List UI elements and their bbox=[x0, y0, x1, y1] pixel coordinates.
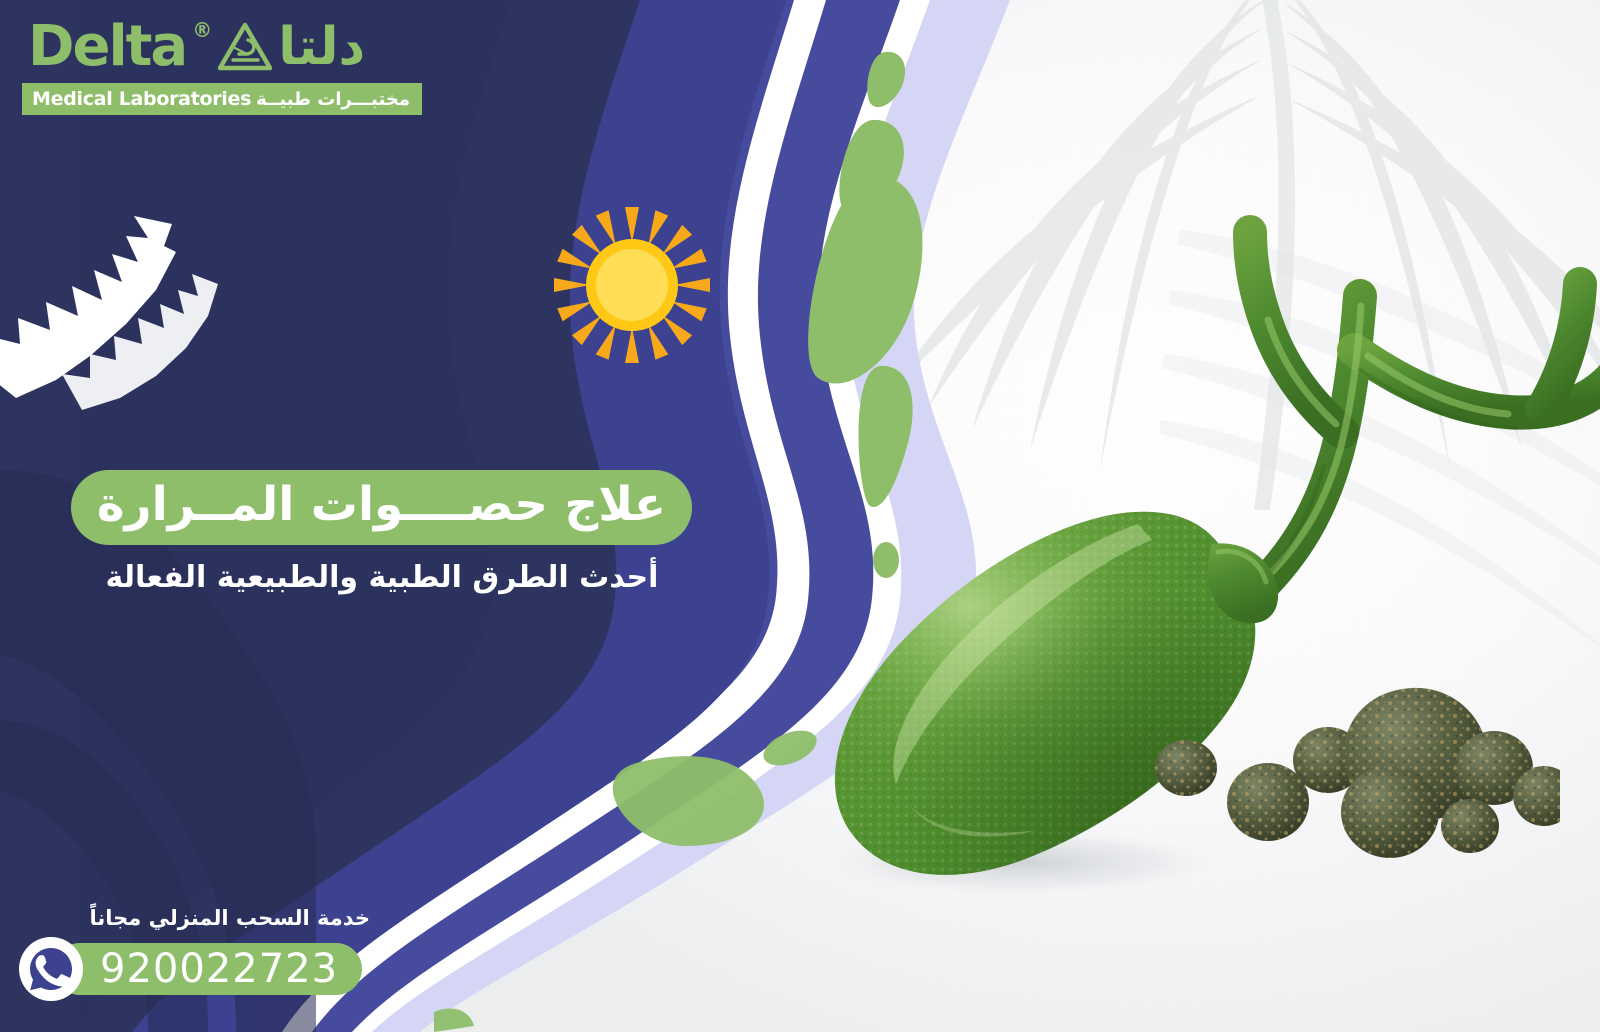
registered-trademark-icon: ® bbox=[192, 18, 212, 42]
gallstones-cluster bbox=[1140, 660, 1560, 880]
advertisement-banner: Delta ® دلتا Medical Laboratories مختبــ… bbox=[0, 0, 1600, 1032]
logo-wordmark-ar: دلتا bbox=[278, 21, 365, 73]
logo-tagline-bar: Medical Laboratories مختبـــرات طبيــة bbox=[22, 83, 422, 115]
brand-logo[interactable]: Delta ® دلتا Medical Laboratories مختبــ… bbox=[22, 14, 422, 115]
triangle-microscope-icon bbox=[218, 22, 272, 72]
contact-block: خدمة السحب المنزلي مجاناً 920022723 bbox=[18, 906, 378, 1002]
logo-wordmark-en: Delta bbox=[28, 19, 186, 75]
home-service-note: خدمة السحب المنزلي مجاناً bbox=[18, 906, 378, 930]
logo-tagline-ar: مختبـــرات طبيــة bbox=[256, 89, 410, 110]
whatsapp-icon[interactable] bbox=[18, 936, 84, 1002]
phone-pill[interactable]: 920022723 bbox=[54, 943, 362, 995]
logo-tagline-en: Medical Laboratories bbox=[32, 88, 251, 110]
headline-pill: علاج حصــــوات المــرارة bbox=[71, 470, 692, 545]
phone-number[interactable]: 920022723 bbox=[100, 949, 338, 989]
page-title: علاج حصــــوات المــرارة bbox=[97, 479, 666, 532]
sun-icon bbox=[552, 205, 712, 365]
page-subtitle: أحدث الطرق الطبية والطبيعية الفعالة bbox=[72, 560, 692, 595]
phone-row[interactable]: 920022723 bbox=[18, 936, 378, 1002]
headline-block: علاج حصــــوات المــرارة أحدث الطرق الطب… bbox=[72, 470, 692, 595]
logo-top-row: Delta ® دلتا bbox=[22, 14, 422, 80]
palm-leaf-icon bbox=[0, 198, 246, 438]
